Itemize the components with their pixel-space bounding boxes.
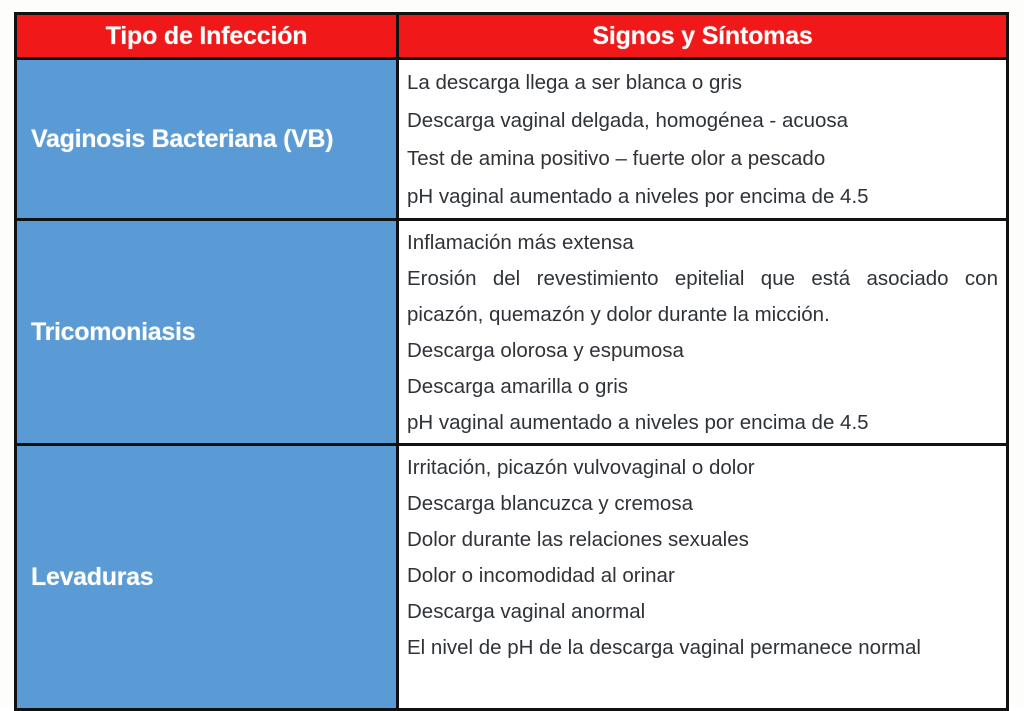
signs-cell: Inflamación más extensa Erosión del reve… xyxy=(398,220,1008,445)
table-header: Tipo de Infección Signos y Síntomas xyxy=(16,14,1008,59)
sign-line: Test de amina positivo – fuerte olor a p… xyxy=(407,140,998,178)
table-row: Vaginosis Bacteriana (VB) La descarga ll… xyxy=(16,59,1008,220)
sign-line: Descarga amarilla o gris xyxy=(407,369,998,405)
sign-line: Dolor durante las relaciones sexuales xyxy=(407,522,998,558)
sign-line: Descarga vaginal anormal xyxy=(407,594,998,630)
sign-line: Inflamación más extensa xyxy=(407,225,998,261)
column-header-signs: Signos y Síntomas xyxy=(398,14,1008,59)
sign-line: Erosión del revestimiento epitelial que … xyxy=(407,261,998,333)
sign-line: Dolor o incomodidad al orinar xyxy=(407,558,998,594)
signs-cell: La descarga llega a ser blanca o gris De… xyxy=(398,59,1008,220)
infection-type-cell: Tricomoniasis xyxy=(16,220,398,445)
signs-cell: Irritación, picazón vulvovaginal o dolor… xyxy=(398,445,1008,710)
infection-type-cell: Vaginosis Bacteriana (VB) xyxy=(16,59,398,220)
table-row: Levaduras Irritación, picazón vulvovagin… xyxy=(16,445,1008,710)
sign-line: pH vaginal aumentado a niveles por encim… xyxy=(407,405,998,441)
infection-type-cell: Levaduras xyxy=(16,445,398,710)
sign-line: Descarga olorosa y espumosa xyxy=(407,333,998,369)
sign-line: Irritación, picazón vulvovaginal o dolor xyxy=(407,450,998,486)
sign-line: Descarga vaginal delgada, homogénea - ac… xyxy=(407,102,998,140)
column-header-type: Tipo de Infección xyxy=(16,14,398,59)
sign-line: pH vaginal aumentado a niveles por encim… xyxy=(407,178,998,216)
table-row: Tricomoniasis Inflamación más extensa Er… xyxy=(16,220,1008,445)
page-root: Tipo de Infección Signos y Síntomas Vagi… xyxy=(0,0,1024,707)
sign-line: El nivel de pH de la descarga vaginal pe… xyxy=(407,630,998,666)
sign-line: La descarga llega a ser blanca o gris xyxy=(407,64,998,102)
sign-line: Descarga blancuzca y cremosa xyxy=(407,486,998,522)
table-header-row: Tipo de Infección Signos y Síntomas xyxy=(16,14,1008,59)
table-body: Vaginosis Bacteriana (VB) La descarga ll… xyxy=(16,59,1008,710)
infection-table: Tipo de Infección Signos y Síntomas Vagi… xyxy=(14,12,1009,711)
